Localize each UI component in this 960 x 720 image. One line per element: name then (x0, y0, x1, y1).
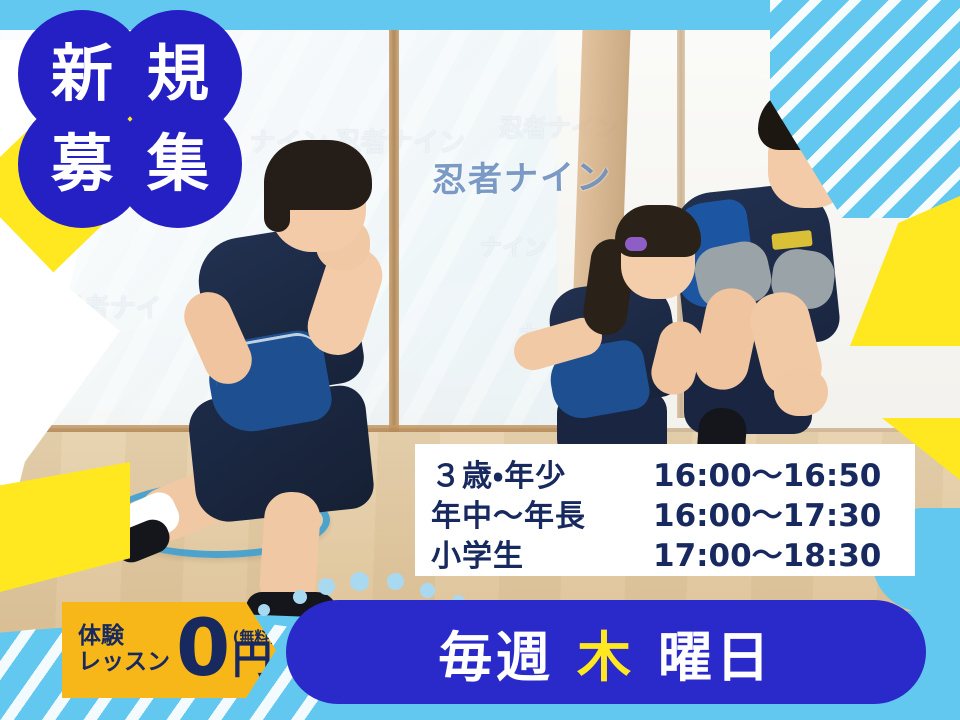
trial-lesson-price-badge: 体験 レッスン 0 円 (無料) (62, 602, 276, 698)
trial-lesson-amount: 0 (176, 618, 230, 682)
glass-brand-logo: 忍者ナイン (432, 150, 613, 202)
weekly-prefix: 毎週 (438, 626, 554, 689)
schedule-time-value: 16:00〜17:30 (653, 490, 881, 535)
schedule-age-label: 小学生 (431, 531, 653, 575)
girl-hair-tie (625, 237, 647, 251)
weekly-day-text: 毎週 木 曜日 (438, 613, 774, 692)
new-enrollment-badge: 新 規 募 集 (18, 10, 248, 228)
schedule-time-value: 17:00〜18:30 (653, 530, 881, 575)
weekly-suffix: 曜日 (658, 626, 774, 689)
badge-char: 募 (51, 133, 113, 195)
schedule-time-value: 16:00〜16:50 (653, 450, 881, 495)
badge-circle-shuu: 集 (114, 100, 242, 228)
schedule-age-label: ３歳・年少 (431, 451, 653, 495)
boy-hair (264, 170, 290, 232)
schedule-row: 年中〜年長 16:00〜17:30 (415, 490, 915, 530)
decor-dot (350, 572, 369, 591)
decor-dot (293, 590, 307, 604)
badge-char: 規 (147, 43, 209, 105)
weekly-day-char: 木 (577, 626, 635, 689)
trial-lesson-label-line1: 体験 (78, 624, 170, 650)
trial-lesson-amount-group: 0 円 (無料) (176, 618, 272, 682)
poster-root: 忍者ナイン ナイン 忍者ナイン 忍者ナイン 忍者ナ ナイン 忍者ナイ ナイン 忍… (0, 0, 960, 720)
badge-char: 集 (147, 133, 209, 195)
weekly-day-banner: 毎週 木 曜日 (286, 600, 926, 704)
decor-dot (258, 604, 270, 616)
schedule-row: ３歳・年少 16:00〜16:50 (415, 450, 915, 490)
coach-hands (774, 368, 828, 416)
trial-lesson-label-line2: レッスン (78, 650, 170, 676)
decor-dot (318, 578, 335, 595)
schedule-row: 小学生 17:00〜18:30 (415, 530, 915, 570)
decor-dot (387, 573, 404, 590)
schedule-age-label: 年中〜年長 (431, 491, 653, 535)
class-schedule-panel: ３歳・年少 16:00〜16:50 年中〜年長 16:00〜17:30 小学生 … (415, 444, 915, 576)
decor-dot (420, 583, 435, 598)
badge-char: 新 (51, 43, 113, 105)
trial-lesson-label: 体験 レッスン (78, 624, 170, 676)
